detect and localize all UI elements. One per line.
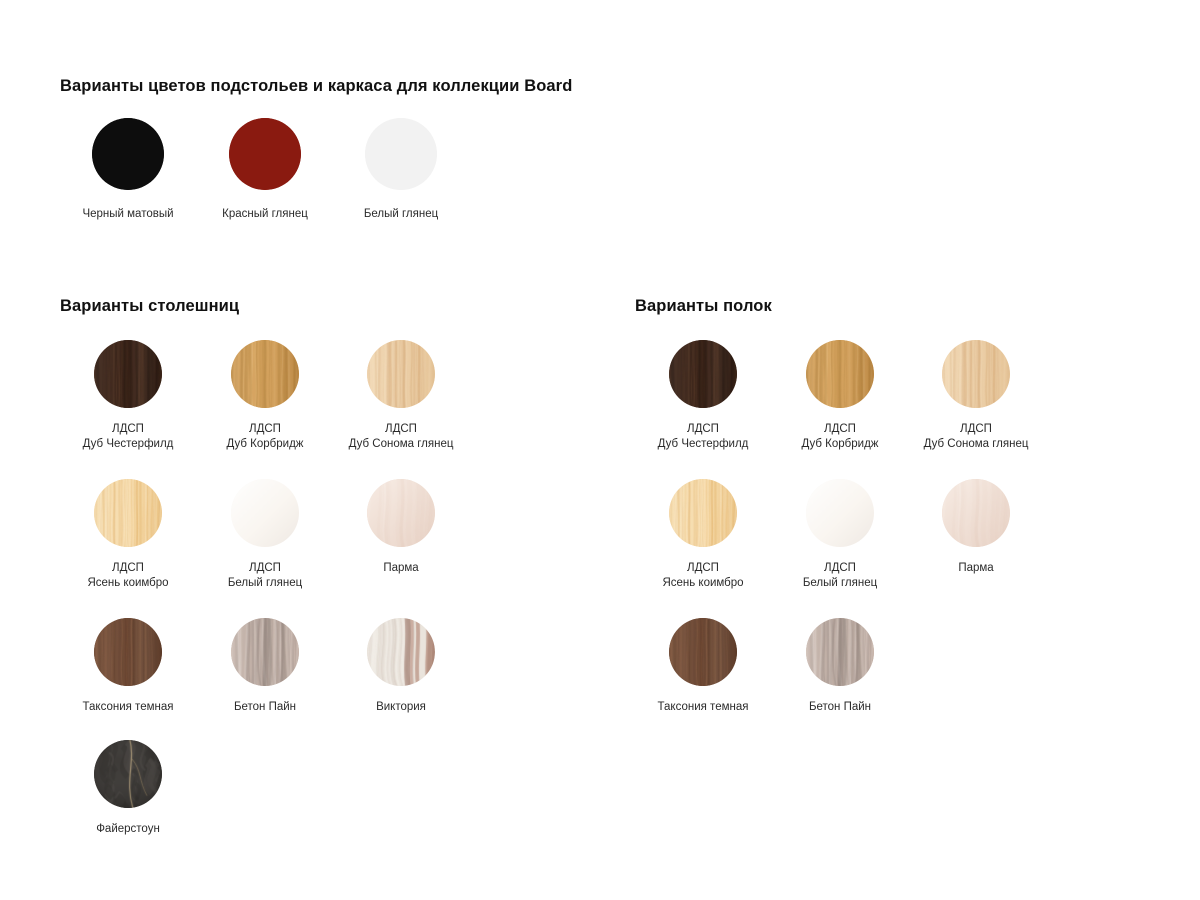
- swatch-label-line1: Парма: [333, 561, 469, 576]
- swatch-cell[interactable]: Черный матовый: [60, 118, 196, 222]
- swatch-label-line1: Виктория: [333, 700, 469, 715]
- swatch-label-line1: Бетон Пайн: [197, 700, 333, 715]
- swatch-label-line2: Дуб Корбридж: [197, 437, 333, 452]
- swatch-label: Белый глянец: [333, 207, 469, 222]
- color-swatch[interactable]: [942, 340, 1010, 408]
- swatch-label: ЛДСПДуб Корбридж: [772, 422, 908, 452]
- swatch-label-line2: Белый глянец: [772, 576, 908, 591]
- swatch-cell[interactable]: Файерстоун: [60, 740, 196, 837]
- swatch-texture: [669, 479, 737, 547]
- color-swatch[interactable]: [231, 340, 299, 408]
- swatch-label-line1: ЛДСП: [197, 422, 333, 437]
- swatch-label: ЛДСПДуб Корбридж: [197, 422, 333, 452]
- color-swatch[interactable]: [367, 340, 435, 408]
- swatch-label-line1: ЛДСП: [772, 422, 908, 437]
- swatch-cell[interactable]: Таксония темная: [60, 618, 196, 715]
- color-swatch[interactable]: [806, 479, 874, 547]
- swatch-label-line1: ЛДСП: [60, 422, 196, 437]
- swatch-texture: [806, 618, 874, 686]
- color-swatch[interactable]: [367, 618, 435, 686]
- swatch-label-line2: Дуб Сонома глянец: [908, 437, 1044, 452]
- swatch-texture: [806, 479, 874, 547]
- color-swatch[interactable]: [92, 118, 164, 190]
- swatch-texture: [942, 340, 1010, 408]
- color-swatch[interactable]: [94, 479, 162, 547]
- swatch-label-line1: Белый глянец: [333, 207, 469, 222]
- color-swatch[interactable]: [669, 340, 737, 408]
- swatch-label-line1: Бетон Пайн: [772, 700, 908, 715]
- swatch-label-line1: ЛДСП: [197, 561, 333, 576]
- color-swatch[interactable]: [669, 479, 737, 547]
- swatch-cell[interactable]: ЛДСПЯсень коимбро: [635, 479, 771, 591]
- swatch-texture: [367, 479, 435, 547]
- swatch-label: ЛДСПЯсень коимбро: [635, 561, 771, 591]
- swatch-label: Таксония темная: [60, 700, 196, 715]
- swatch-label: ЛДСПЯсень коимбро: [60, 561, 196, 591]
- swatch-label-line1: ЛДСП: [635, 422, 771, 437]
- swatch-label-line1: ЛДСП: [908, 422, 1044, 437]
- swatch-label-line2: Ясень коимбро: [635, 576, 771, 591]
- swatch-cell[interactable]: Парма: [333, 479, 469, 576]
- swatch-label-line1: ЛДСП: [635, 561, 771, 576]
- color-swatch[interactable]: [94, 618, 162, 686]
- swatch-texture: [231, 340, 299, 408]
- swatch-cell[interactable]: ЛДСПДуб Сонома глянец: [333, 340, 469, 452]
- color-swatch[interactable]: [942, 479, 1010, 547]
- swatch-label: Черный матовый: [60, 207, 196, 222]
- swatch-cell[interactable]: ЛДСПБелый глянец: [197, 479, 333, 591]
- swatch-label-line1: ЛДСП: [333, 422, 469, 437]
- swatch-label-line2: Белый глянец: [197, 576, 333, 591]
- swatch-label: ЛДСПДуб Честерфилд: [635, 422, 771, 452]
- color-swatch[interactable]: [669, 618, 737, 686]
- swatch-texture: [367, 618, 435, 686]
- swatch-label: Таксония темная: [635, 700, 771, 715]
- shelves-section-title: Варианты полок: [635, 297, 772, 316]
- swatch-label: ЛДСПДуб Сонома глянец: [908, 422, 1044, 452]
- swatch-texture: [367, 340, 435, 408]
- swatch-texture: [942, 479, 1010, 547]
- color-swatch[interactable]: [806, 340, 874, 408]
- swatch-label: Бетон Пайн: [772, 700, 908, 715]
- color-options-page: Варианты цветов подстольев и каркаса для…: [0, 0, 1200, 900]
- swatch-texture: [94, 340, 162, 408]
- swatch-texture: [365, 118, 437, 190]
- color-swatch[interactable]: [365, 118, 437, 190]
- color-swatch[interactable]: [231, 479, 299, 547]
- swatch-label: ЛДСПБелый глянец: [197, 561, 333, 591]
- swatch-label-line1: ЛДСП: [772, 561, 908, 576]
- swatch-cell[interactable]: ЛДСПДуб Сонома глянец: [908, 340, 1044, 452]
- swatch-cell[interactable]: ЛДСПДуб Корбридж: [197, 340, 333, 452]
- swatch-label-line2: Дуб Корбридж: [772, 437, 908, 452]
- color-swatch[interactable]: [94, 740, 162, 808]
- swatch-texture: [92, 118, 164, 190]
- swatch-label-line2: Дуб Сонома глянец: [333, 437, 469, 452]
- swatch-label: ЛДСПДуб Сонома глянец: [333, 422, 469, 452]
- swatch-texture: [669, 618, 737, 686]
- swatch-label-line1: Черный матовый: [60, 207, 196, 222]
- swatch-cell[interactable]: ЛДСПДуб Честерфилд: [635, 340, 771, 452]
- swatch-label-line1: Парма: [908, 561, 1044, 576]
- swatch-cell[interactable]: ЛДСПДуб Честерфилд: [60, 340, 196, 452]
- swatch-texture: [669, 340, 737, 408]
- swatch-cell[interactable]: Виктория: [333, 618, 469, 715]
- swatch-label: ЛДСПБелый глянец: [772, 561, 908, 591]
- swatch-cell[interactable]: Парма: [908, 479, 1044, 576]
- swatch-label: ЛДСПДуб Честерфилд: [60, 422, 196, 452]
- swatch-texture: [94, 740, 162, 808]
- swatch-texture: [94, 479, 162, 547]
- color-swatch[interactable]: [367, 479, 435, 547]
- color-swatch[interactable]: [231, 618, 299, 686]
- swatch-label: Парма: [908, 561, 1044, 576]
- swatch-label: Файерстоун: [60, 822, 196, 837]
- swatch-texture: [231, 618, 299, 686]
- color-swatch[interactable]: [806, 618, 874, 686]
- swatch-label-line2: Ясень коимбро: [60, 576, 196, 591]
- swatch-label-line1: Таксония темная: [635, 700, 771, 715]
- swatch-label: Красный глянец: [197, 207, 333, 222]
- tabletops-section-title: Варианты столешниц: [60, 297, 239, 316]
- swatch-label: Бетон Пайн: [197, 700, 333, 715]
- swatch-label-line2: Дуб Честерфилд: [635, 437, 771, 452]
- swatch-label: Виктория: [333, 700, 469, 715]
- swatch-label-line1: Красный глянец: [197, 207, 333, 222]
- frames-section-title: Варианты цветов подстольев и каркаса для…: [60, 77, 572, 96]
- swatch-cell[interactable]: Бетон Пайн: [197, 618, 333, 715]
- swatch-cell[interactable]: ЛДСПДуб Корбридж: [772, 340, 908, 452]
- swatch-cell[interactable]: Бетон Пайн: [772, 618, 908, 715]
- swatch-texture: [229, 118, 301, 190]
- swatch-texture: [231, 479, 299, 547]
- swatch-label-line1: Файерстоун: [60, 822, 196, 837]
- color-swatch[interactable]: [94, 340, 162, 408]
- swatch-label-line1: Таксония темная: [60, 700, 196, 715]
- swatch-cell[interactable]: Красный глянец: [197, 118, 333, 222]
- swatch-cell[interactable]: Таксония темная: [635, 618, 771, 715]
- swatch-cell[interactable]: Белый глянец: [333, 118, 469, 222]
- swatch-label-line1: ЛДСП: [60, 561, 196, 576]
- swatch-cell[interactable]: ЛДСПЯсень коимбро: [60, 479, 196, 591]
- swatch-texture: [94, 618, 162, 686]
- swatch-cell[interactable]: ЛДСПБелый глянец: [772, 479, 908, 591]
- swatch-label-line2: Дуб Честерфилд: [60, 437, 196, 452]
- color-swatch[interactable]: [229, 118, 301, 190]
- swatch-label: Парма: [333, 561, 469, 576]
- swatch-texture: [806, 340, 874, 408]
